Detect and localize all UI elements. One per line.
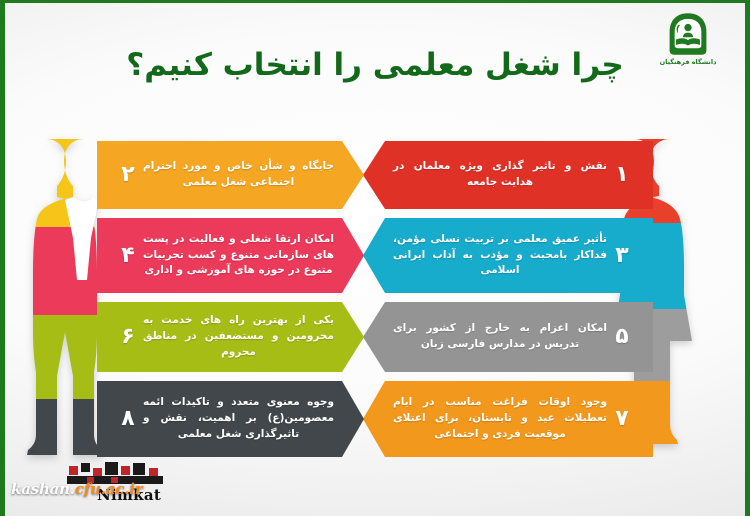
reason-text-3: تأثیر عمیق معلمی بر تربیت نسلی مؤمن، فدا…	[393, 232, 607, 280]
reason-arrow-4[interactable]: ۴ امکان ارتقا شغلی و فعالیت در پست های س…	[97, 218, 364, 293]
reason-number-2: ۲	[115, 164, 141, 186]
watermark-tld: cfu.ac.ir	[75, 480, 143, 498]
reason-number-5: ۵	[609, 326, 635, 348]
reason-arrow-5[interactable]: ۵ امکان اعزام به خارج از کشور برای تدریس…	[363, 302, 653, 372]
watermark-domain: kashan.	[11, 480, 75, 498]
reason-text-6: یکی از بهترین راه های خدمت به محرومین و …	[143, 313, 334, 361]
reason-text-2: جایگاه و شأن خاص و مورد احترام اجتماعی ش…	[143, 159, 334, 191]
site-watermark: kashan.cfu.ac.ir	[11, 480, 143, 498]
reason-text-7: وجود اوقات فراغت مناسب در ایام تعطیلات ع…	[393, 395, 607, 443]
reason-number-3: ۳	[609, 245, 635, 267]
reason-text-4: امکان ارتقا شغلی و فعالیت در پست های ساز…	[143, 232, 334, 280]
reason-text-5: امکان اعزام به خارج از کشور برای تدریس د…	[393, 321, 607, 353]
reason-number-6: ۶	[115, 326, 141, 348]
reason-arrow-1[interactable]: ۱ نقش و تاثیر گذاری ویژه معلمان در هدایت…	[363, 141, 653, 209]
reason-text-1: نقش و تاثیر گذاری ویژه معلمان در هدایت ج…	[393, 159, 607, 191]
page-title: چرا شغل معلمی را انتخاب کنیم؟	[5, 47, 745, 83]
reason-number-1: ۱	[609, 164, 635, 186]
reason-number-7: ۷	[609, 408, 635, 430]
infographic-canvas: دانشگاه فرهنگیان چرا شغل معلمی را انتخاب…	[0, 0, 750, 516]
reason-number-4: ۴	[115, 245, 141, 267]
reason-arrow-6[interactable]: ۶ یکی از بهترین راه های خدمت به محرومین …	[97, 302, 364, 372]
reason-number-8: ۸	[115, 408, 141, 430]
reason-arrow-2[interactable]: ۲ جایگاه و شأن خاص و مورد احترام اجتماعی…	[97, 141, 364, 209]
reason-text-8: وجوه معنوی متعدد و تاکیدات ائمه معصومین(…	[143, 395, 334, 443]
reason-arrow-8[interactable]: ۸ وجوه معنوی متعدد و تاکیدات ائمه معصومی…	[97, 381, 364, 457]
reason-arrow-7[interactable]: ۷ وجود اوقات فراغت مناسب در ایام تعطیلات…	[363, 381, 653, 457]
reason-arrow-3[interactable]: ۳ تأثیر عمیق معلمی بر تربیت نسلی مؤمن، ف…	[363, 218, 653, 293]
